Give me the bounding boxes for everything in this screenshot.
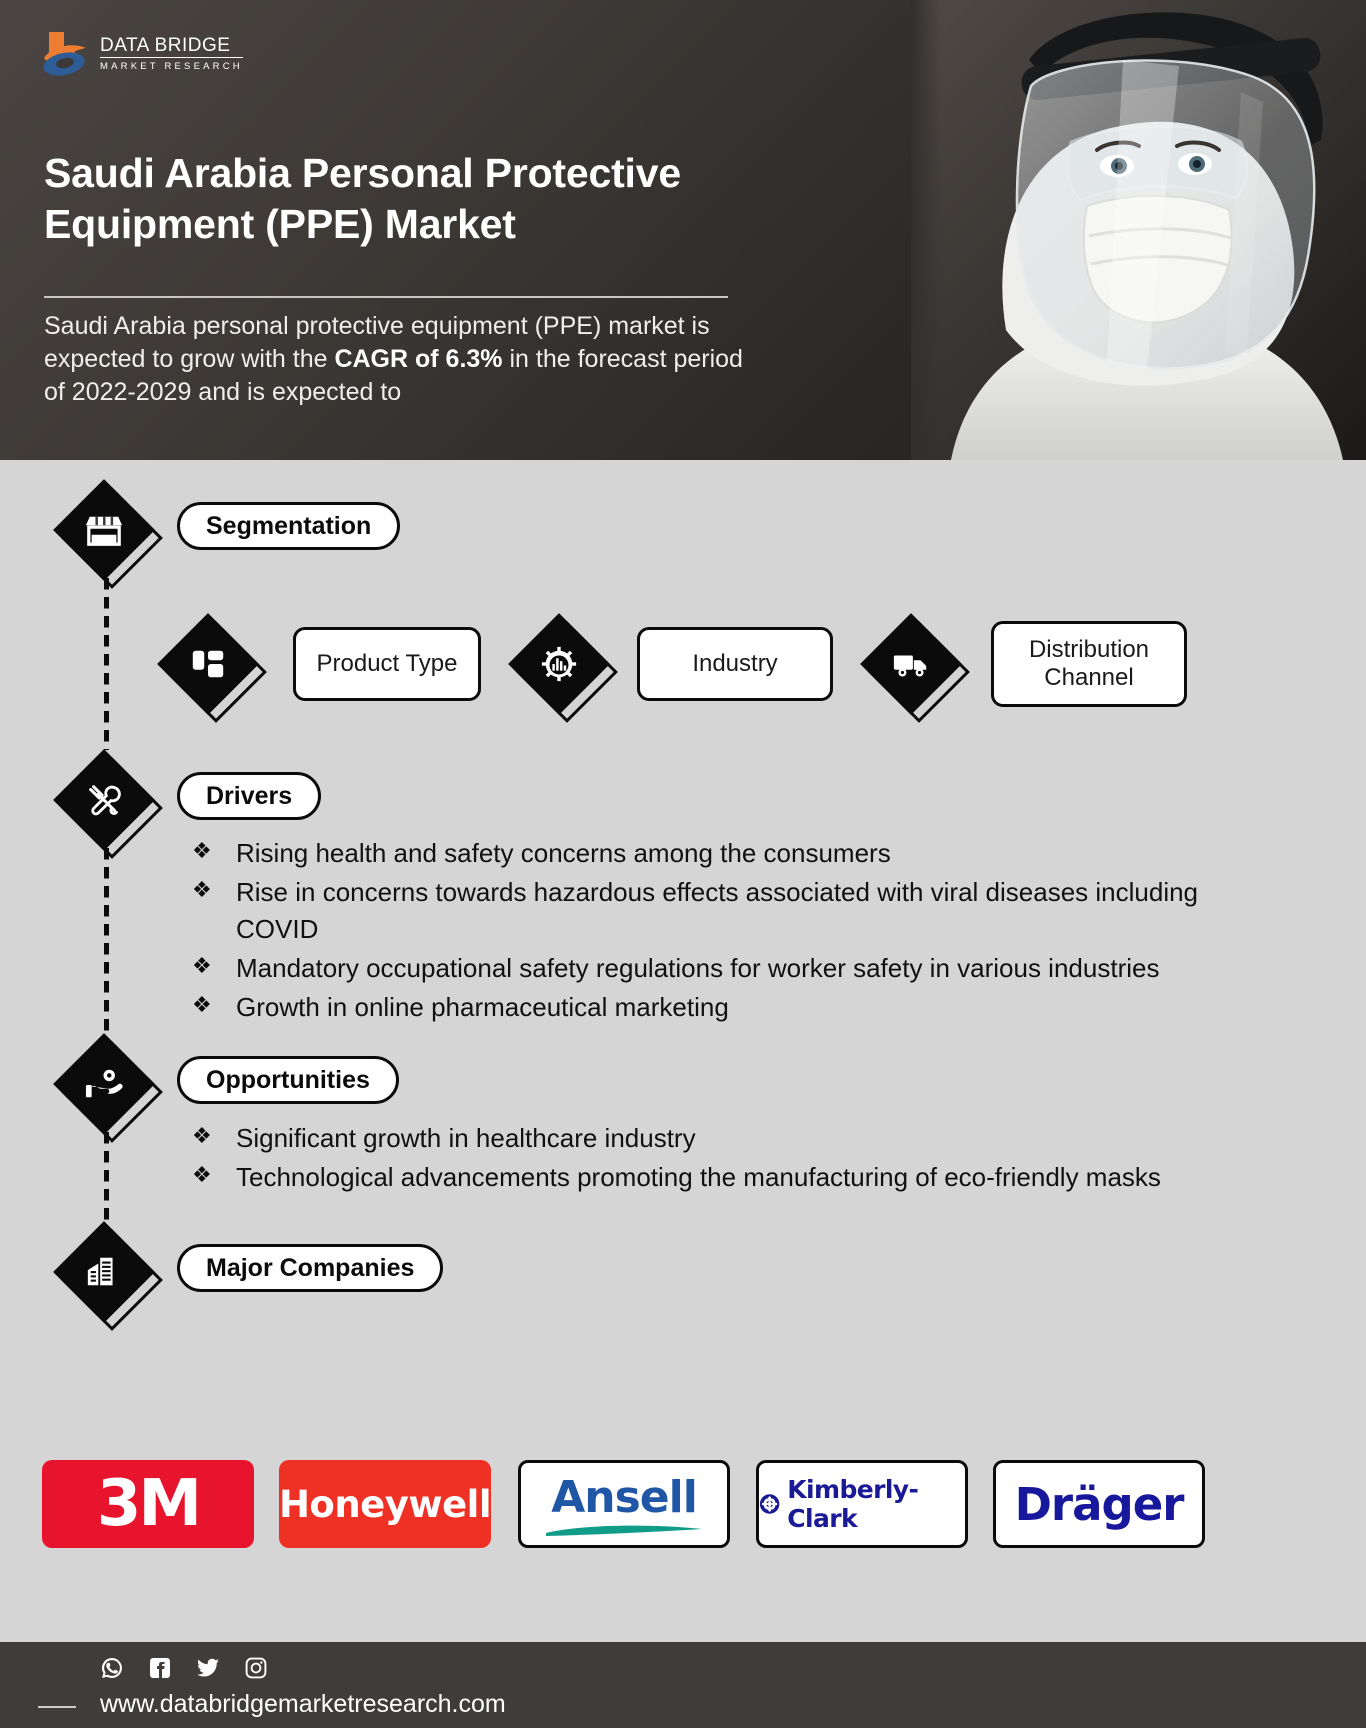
footer-website-url[interactable]: www.databridgemarketresearch.com — [100, 1690, 506, 1719]
ansell-swoosh-icon — [544, 1523, 704, 1537]
segmentation-item-2-icon-badge — [865, 618, 957, 710]
bullet-diamond-icon: ❖ — [192, 835, 236, 866]
segmentation-icon-badge — [58, 484, 150, 576]
logo-title: DATA BRIDGE — [100, 36, 243, 59]
list-item: ❖ Technological advancements promoting t… — [192, 1159, 1212, 1196]
page-title: Saudi Arabia Personal Protective Equipme… — [44, 148, 834, 251]
instagram-icon[interactable] — [244, 1656, 268, 1680]
data-bridge-logo-icon — [42, 28, 90, 80]
social-links — [100, 1656, 268, 1680]
opportunities-label[interactable]: Opportunities — [177, 1056, 399, 1104]
segmentation-item-2-box[interactable]: Distribution Channel — [991, 621, 1187, 707]
segmentation-item-1-icon-badge — [513, 618, 605, 710]
segmentation-item-0-icon-badge — [162, 618, 254, 710]
grid-blocks-icon — [162, 618, 254, 710]
tools-icon — [58, 754, 150, 846]
list-item: ❖ Growth in online pharmaceutical market… — [192, 989, 1212, 1026]
bullet-diamond-icon: ❖ — [192, 950, 236, 981]
infographic-page: DATA BRIDGE MARKET RESEARCH Saudi Arabia… — [0, 0, 1366, 1728]
desc-cagr: CAGR of 6.3% — [334, 345, 502, 373]
company-logo-ansell[interactable]: Ansell — [518, 1460, 730, 1548]
opportunities-icon-badge — [58, 1038, 150, 1130]
twitter-icon[interactable] — [196, 1656, 220, 1680]
bullet-diamond-icon: ❖ — [192, 1120, 236, 1151]
delivery-truck-icon — [865, 618, 957, 710]
drivers-icon-badge — [58, 754, 150, 846]
company-logo-kimberly-clark-text: Kimberly-Clark — [787, 1475, 965, 1533]
footer-bar: www.databridgemarketresearch.com — [0, 1642, 1366, 1728]
company-logo-honeywell-text: Honeywell — [279, 1483, 491, 1526]
company-logo-kimberly-clark[interactable]: Kimberly-Clark — [756, 1460, 968, 1548]
connector-segmentation-drivers — [104, 578, 109, 750]
header-description: Saudi Arabia personal protective equipme… — [44, 310, 764, 409]
list-item: ❖ Rise in concerns towards hazardous eff… — [192, 874, 1212, 948]
facebook-icon[interactable] — [148, 1656, 172, 1680]
gear-chart-icon — [513, 618, 605, 710]
companies-label[interactable]: Major Companies — [177, 1244, 443, 1292]
company-logo-ansell-text: Ansell — [551, 1472, 697, 1523]
logo-subtitle: MARKET RESEARCH — [100, 61, 243, 72]
kimberly-clark-star-icon — [759, 1492, 780, 1516]
brand-logo[interactable]: DATA BRIDGE MARKET RESEARCH — [42, 28, 243, 80]
bullet-diamond-icon: ❖ — [192, 1159, 236, 1190]
office-buildings-icon — [58, 1226, 150, 1318]
company-logo-honeywell[interactable]: Honeywell — [279, 1460, 491, 1548]
companies-icon-badge — [58, 1226, 150, 1318]
list-item: ❖ Rising health and safety concerns amon… — [192, 835, 1212, 872]
segmentation-item-0-box[interactable]: Product Type — [293, 627, 481, 701]
hand-coin-icon — [58, 1038, 150, 1130]
list-item: ❖ Mandatory occupational safety regulati… — [192, 950, 1212, 987]
ppe-worker-photo — [911, 0, 1366, 460]
segmentation-label[interactable]: Segmentation — [177, 502, 400, 550]
content-area: Segmentation Product Type — [0, 460, 1366, 1642]
connector-drivers-opportunities — [104, 848, 109, 1038]
bullet-diamond-icon: ❖ — [192, 874, 236, 905]
header-banner: DATA BRIDGE MARKET RESEARCH Saudi Arabia… — [0, 0, 1366, 460]
company-logo-drager[interactable]: Dräger — [993, 1460, 1205, 1548]
segmentation-item-1-box[interactable]: Industry — [637, 627, 833, 701]
company-logo-3m-text: 3M — [97, 1467, 199, 1541]
whatsapp-icon[interactable] — [100, 1656, 124, 1680]
list-item: ❖ Significant growth in healthcare indus… — [192, 1120, 1212, 1157]
drivers-label[interactable]: Drivers — [177, 772, 321, 820]
title-divider — [44, 296, 728, 298]
company-logo-3m[interactable]: 3M — [42, 1460, 254, 1548]
company-logo-drager-text: Dräger — [1015, 1478, 1184, 1531]
drivers-list: ❖ Rising health and safety concerns amon… — [192, 835, 1212, 1028]
opportunities-list: ❖ Significant growth in healthcare indus… — [192, 1120, 1212, 1198]
storefront-icon — [58, 484, 150, 576]
bullet-diamond-icon: ❖ — [192, 989, 236, 1020]
footer-divider — [38, 1706, 76, 1708]
